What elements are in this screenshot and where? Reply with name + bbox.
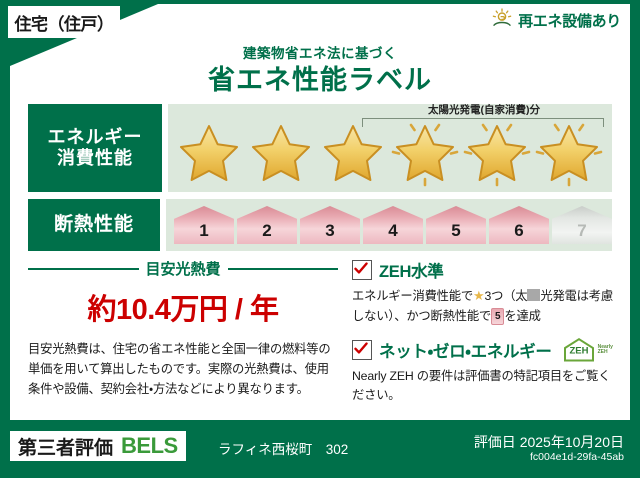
net-zero-energy-body: Nearly ZEH の要件は評価書の特記項目をご覧ください。 (352, 367, 620, 406)
check-icon (354, 262, 368, 276)
zeh-standard-heading: ZEH水準 (352, 258, 620, 282)
page-title: 省エネ性能ラベル (0, 58, 640, 97)
svg-text:ZEH: ZEH (569, 345, 588, 356)
insulation-grade-scale: 1234567 (166, 206, 612, 244)
star-icon (246, 122, 316, 188)
insulation-performance-value: 1234567 (166, 199, 612, 251)
bels-badge: 第三者評価 BELS (10, 431, 186, 461)
energy-performance-row: エネルギー 消費性能 太陽光発電(自家消費)分 (28, 104, 612, 192)
property-name: ラフィネ西桜町 302 (218, 438, 348, 458)
utility-cost-heading: 目安光熱費 (28, 258, 338, 279)
insulation-grade-badge: 4 (363, 206, 423, 244)
net-zero-energy-checkbox[interactable] (352, 340, 372, 360)
category-tag-label: 住宅（住戸） (15, 10, 114, 35)
net-zero-energy-title: ネット・ゼロ・エネルギー (379, 338, 552, 362)
insulation-grade-badge: 6 (489, 206, 549, 244)
sun-icon (491, 8, 513, 33)
rule-left (28, 268, 139, 270)
insulation-grade-badge: 7 (552, 206, 612, 244)
insulation-grade-badge: 3 (300, 206, 360, 244)
insulation-performance-row: 断熱性能 1234567 (28, 199, 612, 251)
solar-bracket (362, 118, 604, 127)
bels-badge-ja: 第三者評価 (18, 433, 113, 460)
star-icon (390, 122, 460, 188)
insulation-grade-badge: 5 (426, 206, 486, 244)
inline-star-icon: ★ (473, 288, 484, 303)
energy-performance-value: 太陽光発電(自家消費)分 (168, 104, 612, 192)
zeh-logo: ZEH Nearly ZEH (562, 337, 613, 363)
utility-cost-value: 約10.4万円 / 年 (28, 286, 338, 328)
zeh-body-part1: エネルギー消費性能で (352, 289, 473, 303)
zeh-standard-body: エネルギー消費性能で★3つ（太光発電は考慮しない）、かつ断熱性能で5を達成 (352, 286, 620, 326)
energy-performance-label: 住宅（住戸） 再エネ設備あり 建築物省エネ法に基づく 省エネ性能ラベル エネル (0, 0, 640, 478)
bels-badge-en: BELS (121, 433, 178, 459)
star-icon (174, 122, 244, 188)
zeh-body-part2: 3つ（太 (484, 289, 527, 303)
redacted-character (527, 289, 540, 301)
evaluation-date: 評価日 2025年10月20日 (474, 432, 624, 452)
star-icon (318, 122, 388, 188)
star-rating (168, 122, 604, 188)
energy-key-line1: エネルギー (48, 127, 143, 148)
solar-caption: 太陽光発電(自家消費)分 (364, 102, 604, 117)
zeh-logo-sub: Nearly ZEH (598, 345, 613, 356)
net-zero-energy-heading: ネット・ゼロ・エネルギー ZEH Nearly ZEH (352, 337, 620, 363)
zeh-house-icon: ZEH (562, 337, 596, 363)
evaluation-id: fc004e1d-29fa-45ab (530, 451, 624, 463)
footer-bar: 第三者評価 BELS ラフィネ西桜町 302 評価日 2025年10月20日 f… (0, 422, 640, 478)
renewable-energy-label: 再エネ設備あり (518, 10, 621, 31)
star-icon (462, 122, 532, 188)
utility-cost-heading-label: 目安光熱費 (146, 258, 221, 279)
energy-performance-key: エネルギー 消費性能 (28, 104, 162, 192)
insulation-grade-badge: 2 (237, 206, 297, 244)
zeh-logo-sub-line2: ZEH (598, 349, 608, 355)
insulation-grade-badge: 1 (174, 206, 234, 244)
renewable-energy-badge: 再エネ設備あり (485, 5, 630, 36)
rule-right (228, 268, 339, 270)
zeh-body-part4: を達成 (504, 309, 540, 323)
check-icon (354, 342, 368, 356)
utility-cost-section: 目安光熱費 約10.4万円 / 年 目安光熱費は、住宅の省エネ性能と全国一律の燃… (28, 258, 338, 400)
zeh-standard-block: ZEH水準 エネルギー消費性能で★3つ（太光発電は考慮しない）、かつ断熱性能で5… (352, 258, 620, 326)
energy-key-line2: 消費性能 (57, 148, 133, 169)
insulation-performance-key: 断熱性能 (28, 199, 160, 251)
category-tag: 住宅（住戸） (8, 6, 120, 38)
inline-grade-badge: 5 (491, 308, 504, 326)
net-zero-energy-block: ネット・ゼロ・エネルギー ZEH Nearly ZEH Nearly ZEH の… (352, 337, 620, 406)
zeh-standard-checkbox[interactable] (352, 260, 372, 280)
zeh-standard-title: ZEH水準 (379, 258, 444, 282)
utility-cost-note: 目安光熱費は、住宅の省エネ性能と全国一律の燃料等の単価を用いて算出したものです。… (28, 340, 338, 400)
zeh-section: ZEH水準 エネルギー消費性能で★3つ（太光発電は考慮しない）、かつ断熱性能で5… (352, 258, 620, 417)
star-icon (534, 122, 604, 188)
